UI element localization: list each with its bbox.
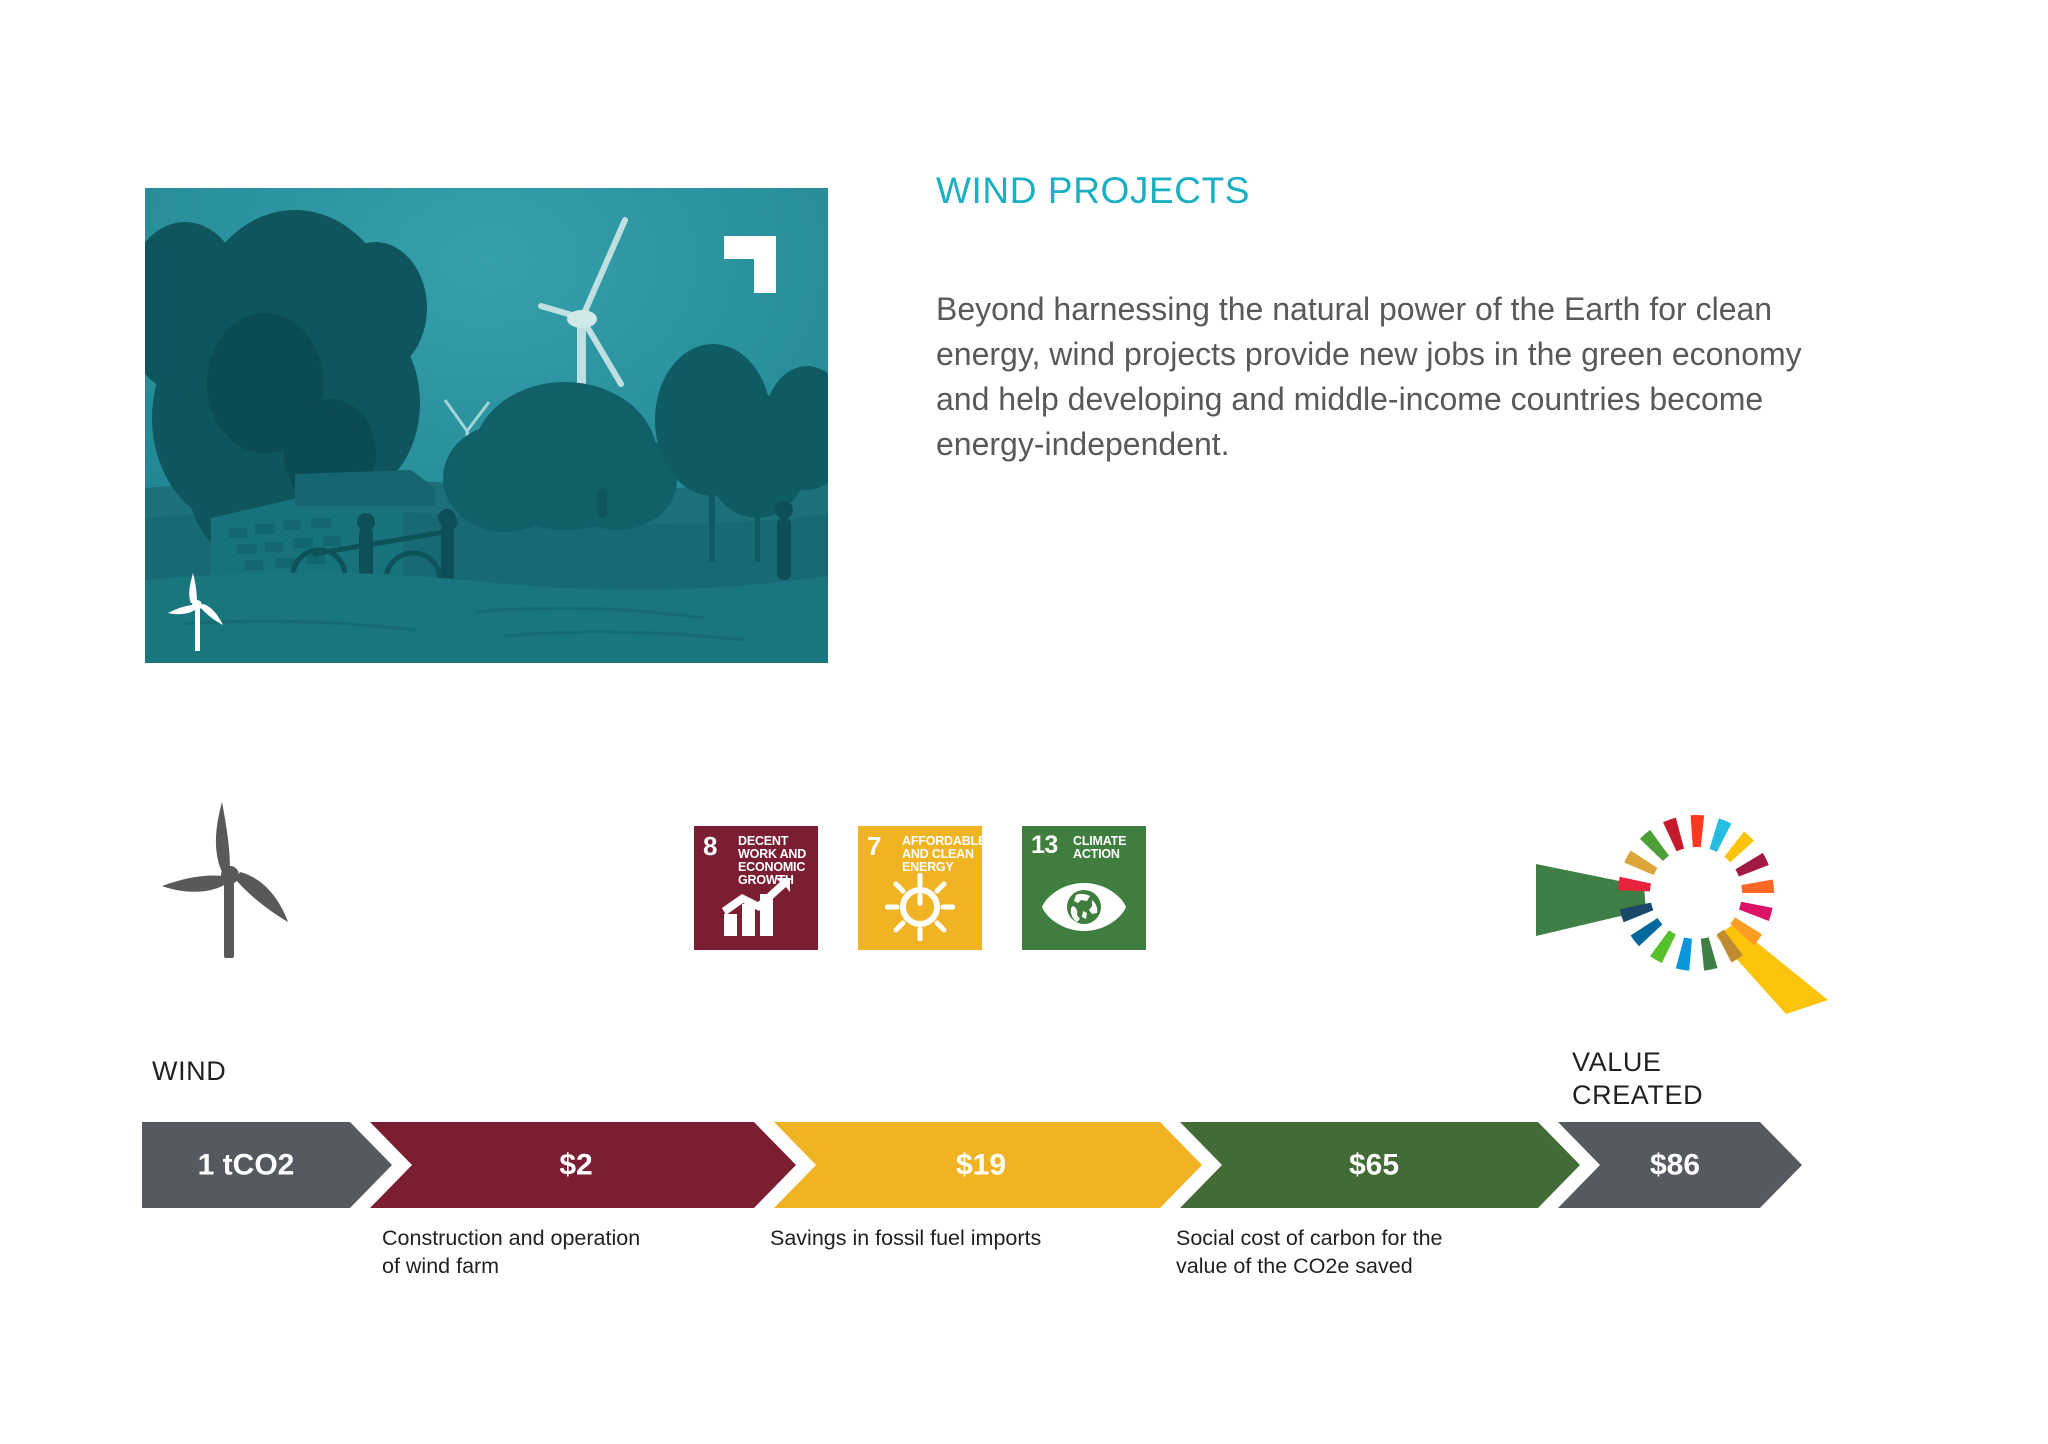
value-chain-flow: 1 tCO2 $2 $19 $65 $86 [142,1122,1802,1208]
corner-bracket-icon [724,236,776,293]
chain-start-label: WIND [152,1056,226,1087]
photo-wind-turbine-icon [167,565,229,653]
sun-power-icon [858,870,982,944]
chain-caption-social-cost: Social cost of carbon for the value of t… [1176,1224,1506,1280]
chain-segment-5[interactable]: $86 [1558,1122,1802,1208]
eye-globe-icon [1022,870,1146,944]
wind-turbine-icon [160,800,298,960]
sdg-tile-7[interactable]: 7 AFFORDABLE AND CLEAN ENERGY [858,826,982,950]
page-title: WIND PROJECTS [936,170,1250,212]
chain-caption-construction-line2: of wind farm [382,1252,712,1280]
chain-segment-2-value: $2 [559,1149,592,1182]
hero-photo [145,188,828,663]
sdg-color-wheel [1536,768,1856,1018]
chain-segment-2[interactable]: $2 [370,1122,796,1208]
chain-end-label-line1: VALUE [1572,1046,1703,1079]
chain-end-label-line2: CREATED [1572,1079,1703,1112]
chain-segment-4[interactable]: $65 [1180,1122,1580,1208]
sdg-tile-8[interactable]: 8 DECENT WORK AND ECONOMIC GROWTH [694,826,818,950]
sdg-tile-13-title: CLIMATE ACTION [1073,835,1141,861]
chain-caption-social-cost-line1: Social cost of carbon for the [1176,1224,1506,1252]
intro-paragraph: Beyond harnessing the natural power of t… [936,287,1816,467]
chain-segment-1[interactable]: 1 tCO2 [142,1122,392,1208]
sdg-tile-8-number: 8 [703,833,717,859]
chain-end-label: VALUE CREATED [1572,1046,1703,1112]
sdg-tile-group: 8 DECENT WORK AND ECONOMIC GROWTH 7 AFFO… [694,826,1146,950]
sdg-tile-13-number: 13 [1031,833,1058,858]
chain-segment-3-value: $19 [956,1149,1006,1182]
sdg-tile-7-title: AFFORDABLE AND CLEAN ENERGY [902,835,977,874]
chain-segment-1-value: 1 tCO2 [198,1149,295,1182]
chain-segment-3[interactable]: $19 [774,1122,1202,1208]
chain-caption-savings-line1: Savings in fossil fuel imports [770,1224,1100,1252]
chain-segment-4-value: $65 [1349,1149,1399,1182]
chain-caption-construction-line1: Construction and operation [382,1224,712,1252]
intro-paragraph-text: Beyond harnessing the natural power of t… [936,287,1816,467]
sdg-tile-7-number: 7 [867,833,881,859]
chain-caption-savings: Savings in fossil fuel imports [770,1224,1100,1252]
chain-segment-5-value: $86 [1650,1149,1700,1182]
sdg-tile-13[interactable]: 13 CLIMATE ACTION [1022,826,1146,950]
chain-caption-social-cost-line2: value of the CO2e saved [1176,1252,1506,1280]
growth-chart-icon [694,870,818,944]
chain-caption-construction: Construction and operation of wind farm [382,1224,712,1280]
